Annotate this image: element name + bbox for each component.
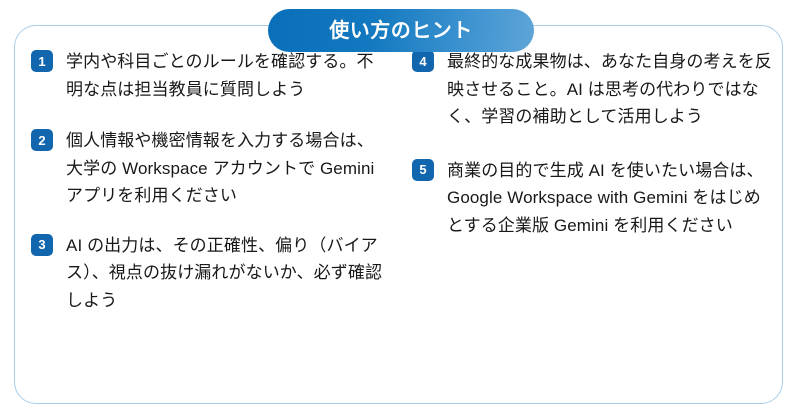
list-item: 5 商業の目的で生成 AI を使いたい場合は、Google Workspace … [412,157,772,240]
item-text: 最終的な成果物は、あなた自身の考えを反映させること。AI は思考の代わりではなく… [447,48,772,131]
item-number-badge: 1 [31,50,53,72]
list-item: 1 学内や科目ごとのルールを確認する。不明な点は担当教員に質問しよう [31,48,386,103]
hints-columns: 1 学内や科目ごとのルールを確認する。不明な点は担当教員に質問しよう 2 個人情… [0,0,800,420]
item-text: 個人情報や機密情報を入力する場合は、大学の Workspace アカウントで G… [66,127,386,210]
item-number-badge: 2 [31,129,53,151]
item-text: 商業の目的で生成 AI を使いたい場合は、Google Workspace wi… [447,157,772,240]
list-item: 3 AI の出力は、その正確性、偏り（バイアス）、視点の抜け漏れがないか、必ず確… [31,232,386,315]
item-number-badge: 3 [31,234,53,256]
item-number-badge: 5 [412,159,434,181]
item-text: 学内や科目ごとのルールを確認する。不明な点は担当教員に質問しよう [66,48,386,103]
hints-column-left: 1 学内や科目ごとのルールを確認する。不明な点は担当教員に質問しよう 2 個人情… [31,48,386,332]
hints-card-screenshot: 使い方のヒント 1 学内や科目ごとのルールを確認する。不明な点は担当教員に質問し… [0,0,800,420]
item-number-badge: 4 [412,50,434,72]
list-item: 4 最終的な成果物は、あなた自身の考えを反映させること。AI は思考の代わりでは… [412,48,772,131]
list-item: 2 個人情報や機密情報を入力する場合は、大学の Workspace アカウントで… [31,127,386,210]
hints-column-right: 4 最終的な成果物は、あなた自身の考えを反映させること。AI は思考の代わりでは… [412,48,772,257]
hints-card-header-pill: 使い方のヒント [268,9,534,52]
hints-card-title: 使い方のヒント [329,21,473,41]
item-text: AI の出力は、その正確性、偏り（バイアス）、視点の抜け漏れがないか、必ず確認し… [66,232,386,315]
